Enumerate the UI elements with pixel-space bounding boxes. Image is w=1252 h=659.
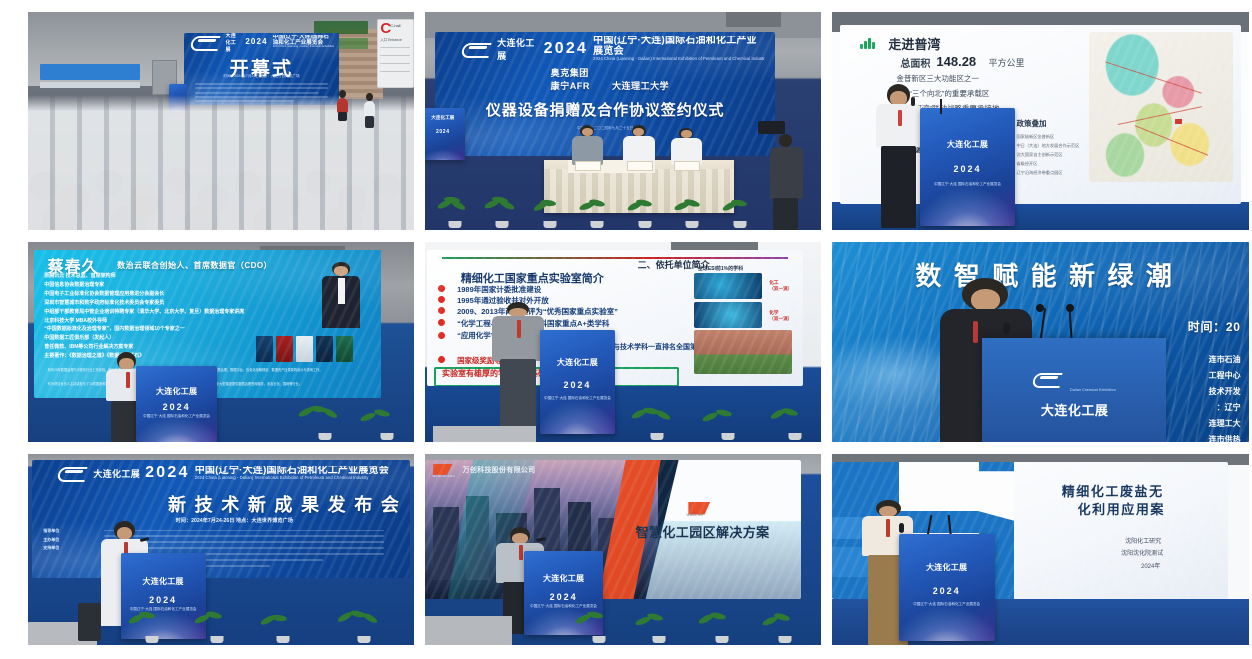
slide-bullet: “中国数据标准化及治理专家”，国内数据治理领域10个专家之一	[44, 325, 185, 332]
stage-plant	[337, 611, 391, 643]
slide-title: 走进普湾	[888, 34, 940, 53]
signing-party-1: 奥克集团	[551, 66, 589, 79]
slide-bullet: 1989年国家计委批准建设	[457, 284, 541, 295]
photo-card-1[interactable]: C C-hall 入口 Entrance 大连化工展 2024	[28, 12, 414, 230]
stage-plant	[770, 408, 821, 440]
policy-item: 中日（大连）地方发展合作示范区	[1016, 143, 1079, 149]
stage-plant	[702, 410, 753, 440]
credit-line: 沈阳化工研究	[1125, 536, 1161, 545]
screen-info-line: 时间：2024年7月24-26日 地点：大连世界博览广场	[176, 517, 293, 524]
slide-bullet: 金普新区三大功能区之一	[896, 73, 979, 84]
podium-logo-text: 大连化工展	[557, 357, 598, 368]
photo-card-9[interactable]: 精细化工废盐无 化利用应用案 沈阳化工研究 沈阳沈化院测试 2024年 大连化工…	[832, 454, 1249, 645]
podium-year: 2024	[563, 380, 591, 390]
seat-card	[575, 161, 601, 171]
podium-logo-text: 大连化工展	[1041, 400, 1109, 419]
podium-logo-text: 大连化工展	[142, 576, 183, 587]
slide-bullet: 深圳市智慧城市和数字政府标准化技术委员会专家委员	[44, 299, 164, 306]
stage-step	[433, 426, 536, 442]
slide-bullet: 中国电子工业标准化协会数据管理应用推进分会副会长	[44, 290, 164, 297]
slide-title: 精细化工国家重点实验室简介	[461, 270, 604, 286]
stage-plant	[762, 614, 810, 643]
screen-main-title: 新 技 术 新 成 果 发 布 会	[168, 491, 401, 517]
chair-rows	[28, 95, 414, 230]
podium-year: 2024	[163, 402, 191, 412]
metric-unit: 平方公里	[988, 56, 1024, 69]
stage-plant	[128, 612, 174, 643]
slide-section-title: 政策叠加	[1016, 118, 1046, 129]
podium-logo-text: 大连化工展	[947, 139, 988, 150]
stage-plant	[298, 406, 352, 440]
panel-item: 化工 （双一流）	[769, 280, 792, 291]
stage-led-screen: 大连化工展 2024 中国(辽宁·大连)国际石油和化工产业展览会 2024 Ch…	[435, 32, 776, 156]
screen-detail-line: 技术开发	[1209, 386, 1241, 397]
podium-year: 2024	[149, 595, 177, 605]
metric-label: 总面积	[900, 55, 930, 70]
event-logo-text: 大连化工展	[497, 36, 538, 62]
panel-image	[694, 273, 762, 299]
podium-subtitle: 中国辽宁·大连 国际石油和化工产业展览会	[543, 396, 612, 401]
event-logo-text: 大连化工展	[226, 33, 241, 53]
credit-line: 沈阳沈化院测试	[1121, 548, 1163, 557]
camera-operator	[766, 130, 806, 230]
video-camera-icon	[758, 121, 786, 134]
microphone-icon	[899, 523, 904, 533]
event-headline-en: 2024 China (Liaoning - Dalian) Internati…	[593, 57, 765, 62]
podium: 大连化工展 2024 中国辽宁·大连 国际石油和化工产业展览会	[136, 366, 217, 442]
policy-item: 辽宁沿海经济带重点园区	[1016, 170, 1062, 176]
stage-plant	[194, 612, 240, 643]
podium: 大连化工展 2024 中国辽宁·大连 国际石油和化工产业展览会	[540, 330, 615, 434]
photo-card-8[interactable]: WANCHUANG 万创科技股份有限公司 WANCHN 智慧化工园区解决方案 大…	[425, 454, 821, 645]
stage-led-screen: 大连化工展 2024 中国(辽宁·大连)国际石油和化工产业展览会 2024 Ch…	[32, 460, 410, 578]
stage-plant	[635, 614, 683, 643]
event-year: 2024	[145, 465, 190, 481]
company-name-cn: 万创科技股份有限公司	[463, 465, 536, 475]
podium-subtitle: 中国辽宁·大连 国际石油和化工产业展览会	[903, 602, 991, 607]
credit-line: 2024年	[1141, 561, 1160, 570]
photo-card-3[interactable]: 走进普湾 总面积 148.28 平方公里 金普新区三大功能区之一 大连“三个向北…	[832, 12, 1249, 230]
podium-logo-text: 大连化工展	[926, 562, 967, 573]
panel-title: 全球ESI前1%的学科	[698, 265, 743, 272]
staff-person	[337, 90, 349, 121]
event-headline-cn: 中国(辽宁·大连)国际石油和化工产业展览会	[273, 35, 334, 47]
region-map	[1089, 32, 1233, 182]
speaker-person	[492, 302, 543, 442]
speaker-portrait	[319, 262, 364, 329]
stage-plant	[575, 612, 623, 643]
slide-bullet: 原腾讯云 技术总监、首席架构师	[44, 272, 115, 279]
podium-subtitle: 中国辽宁·大连 国际石油和化工产业展览会	[923, 182, 1011, 187]
policy-item: 沈大国家自主创新示范区	[1016, 152, 1062, 158]
podium-subtitle: 中国辽宁·大连 国际石油和化工产业展览会	[527, 604, 600, 609]
hall-word: C-hall	[390, 23, 400, 28]
event-year: 2024	[544, 41, 589, 57]
screen-detail-line: 工程中心	[1209, 370, 1241, 381]
screen-main-title: 智慧化工园区解决方案	[636, 522, 770, 541]
podium-year: 2024	[954, 164, 982, 174]
stage-plant	[437, 197, 473, 228]
photo-card-7[interactable]: 大连化工展 2024 中国(辽宁·大连)国际石油和化工产业展览会 2024 Ch…	[28, 454, 414, 645]
stage-plant	[631, 408, 682, 440]
signatory-3	[671, 128, 703, 165]
event-logo-icon	[191, 34, 221, 50]
time-label: 时间：20	[1188, 318, 1241, 335]
signing-party-3: 大连理工大学	[612, 79, 669, 92]
slide-bullet: 中国数据工匠俱乐部（发起人）	[44, 334, 114, 341]
event-headline-cn: 中国(辽宁·大连)国际石油和化工产业展览会	[195, 466, 389, 477]
brand-mark-icon	[688, 502, 710, 515]
slide-section-heading: 二、依托单位简介	[638, 258, 710, 271]
event-logo-icon	[462, 41, 492, 57]
policy-item: 省级经开区	[1016, 161, 1037, 167]
screen-main-title: 仪器设备捐赠及合作协议签约仪式	[486, 99, 725, 120]
stage-plant	[360, 410, 414, 440]
company-logo-icon	[433, 464, 453, 475]
panel-item: 化学 （双一流）	[769, 310, 792, 321]
podium-logo-icon	[1033, 371, 1079, 397]
event-headline-en: 2024 China (Liaoning - Dalian) Internati…	[273, 46, 334, 49]
stage-plant	[674, 200, 710, 228]
stage-plant	[627, 200, 663, 228]
book-covers	[256, 336, 353, 362]
panel-image	[694, 330, 792, 374]
seat-card	[627, 161, 653, 171]
event-logo-text: 大连化工展	[93, 467, 140, 480]
company-logo-en: WANCHUANG	[433, 474, 456, 478]
podium-logo-text: 大连化工展	[156, 386, 197, 397]
org-label: 主办单位	[43, 537, 59, 543]
signatory-1	[572, 125, 604, 164]
screen-detail-line: 连市石油	[1209, 354, 1241, 365]
speaker-person	[874, 84, 924, 228]
signing-party-2: 康宁AFR	[551, 79, 590, 92]
brand-mark-en: WANCHN	[686, 513, 703, 517]
signatory-2	[623, 125, 655, 164]
photo-card-2[interactable]: 大连化工展 2024 中国(辽宁·大连)国际石油和化工产业展览会 2024 Ch…	[425, 12, 821, 230]
speaker-name: 蔡春久	[48, 253, 99, 277]
podium: 大连化工展 2024 中国辽宁·大连 国际石油和化工产业展览会	[920, 108, 1016, 226]
speaker-title: 数治云联合创始人、首席数据官（CDO）	[117, 260, 272, 271]
org-label: 支持单位	[43, 545, 59, 551]
stage-plant	[484, 197, 520, 228]
stage-plant	[532, 200, 568, 228]
screen-detail-line: 连市供热	[1209, 434, 1241, 442]
speaker-box-icon	[78, 603, 101, 641]
presentation-screen: WANCHUANG 万创科技股份有限公司 WANCHN 智慧化工园区解决方案	[425, 460, 801, 599]
podium-logo-en: Dalian Chemical Exhibition	[1070, 388, 1116, 392]
photo-card-4[interactable]: 蔡春久 数治云联合创始人、首席数据官（CDO） 原腾讯云 技术总监、首席架构师 …	[28, 242, 414, 442]
org-label: 指导单位	[43, 528, 59, 534]
screen-main-title-line2: 化利用应用案	[1078, 499, 1165, 518]
stage-step	[425, 616, 512, 645]
photo-card-5[interactable]: 二、依托单位简介 精细化工国家重点实验室简介 1989年国家计委批准建设 199…	[425, 242, 821, 442]
presentation-slide: 二、依托单位简介 精细化工国家重点实验室简介 1989年国家计委批准建设 199…	[427, 250, 803, 386]
event-headline-en: 2024 China (Liaoning - Dalian) Internati…	[195, 476, 389, 481]
slide-bullet: 曾任微软、IBM等公司行业解决方案专家	[44, 343, 133, 350]
slide-bullet: 北京科技大学 MBA校外导师	[44, 317, 107, 324]
seat-card	[674, 161, 700, 171]
screen-detail-line: ：辽宁	[1217, 402, 1241, 413]
visitor-person	[364, 93, 376, 128]
bar-chart-icon	[860, 37, 875, 49]
entrance-label: 入口 Entrance	[380, 37, 401, 42]
screen-main-title-line1: 精细化工废盐无	[1062, 481, 1164, 500]
policy-item: 国家级新区金普新区	[1016, 134, 1054, 140]
stage-plant	[698, 612, 746, 643]
photo-gallery-grid: C C-hall 入口 Entrance 大连化工展 2024	[0, 0, 1252, 659]
podium-logo-text: 大连化工展	[543, 573, 584, 584]
slide-bullet: 中组部干部教育局中管企业培训特聘专家（清华大学、北京大学、复旦）数据治理专家讲席	[44, 308, 244, 315]
slide-bullet: 中国信息协会数据治理专家	[44, 281, 104, 288]
event-logo-icon	[58, 465, 88, 481]
podium-subtitle: 中国辽宁·大连 国际石油和化工产业展览会	[139, 414, 214, 419]
podium-year: 2024	[933, 586, 961, 596]
panel-image	[694, 302, 762, 328]
mic-stand-icon	[940, 99, 942, 114]
microphone-icon	[911, 97, 915, 106]
stage-plant	[260, 614, 306, 643]
podium: Dalian Chemical Exhibition 大连化工展	[982, 338, 1165, 442]
side-banner: 大连化工展 2024	[425, 108, 465, 160]
photo-card-6[interactable]: 数 智 赋 能 新 绿 潮 时间：20 连市石油 工程中心 技术开发 ：辽宁 连…	[832, 242, 1249, 442]
event-year: 2024	[245, 38, 267, 46]
event-headline-cn: 中国(辽宁·大连)国际石油和化工产业展览会	[593, 36, 765, 57]
microphone-icon	[1003, 322, 1010, 334]
stage-plant	[579, 200, 615, 228]
stage-plant	[722, 200, 758, 228]
podium-year: 2024	[550, 592, 578, 602]
screen-detail-line: 连理工大	[1209, 418, 1241, 429]
podium: 大连化工展 2024 中国辽宁·大连 国际石油和化工产业展览会	[899, 534, 995, 641]
metric-value: 148.28	[936, 54, 976, 69]
